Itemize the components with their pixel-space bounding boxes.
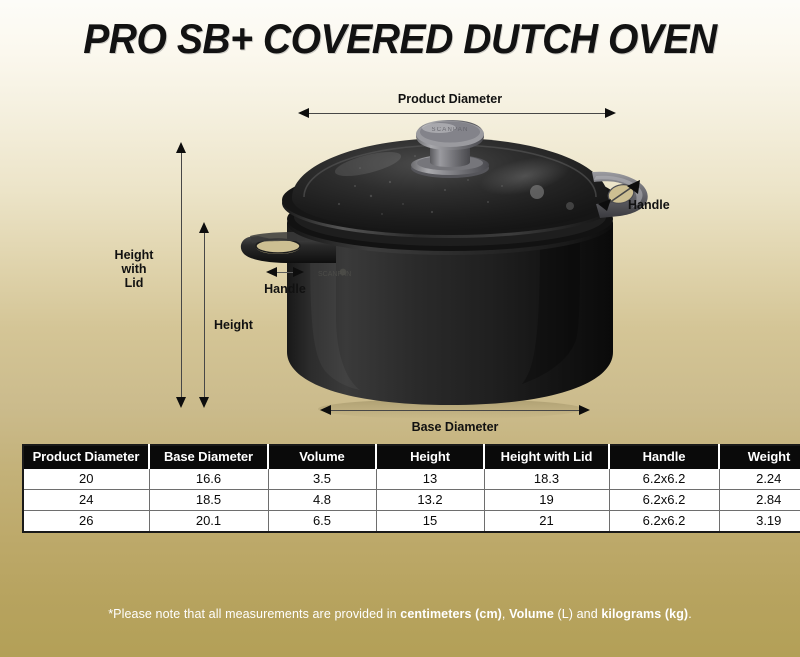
footnote-part-1: *Please note that all measurements are p… xyxy=(108,607,400,621)
arrow-base-diameter xyxy=(320,405,590,416)
footnote-bold-volume: Volume xyxy=(509,607,554,621)
table-header-cell: Base Diameter xyxy=(149,445,268,469)
table-cell: 15 xyxy=(376,511,484,533)
table-cell: 2.84 xyxy=(719,490,800,511)
arrow-product-diameter xyxy=(298,108,616,119)
table-header-row: Product Diameter Base Diameter Volume He… xyxy=(23,445,800,469)
table-cell: 3.19 xyxy=(719,511,800,533)
spec-sheet: PRO SB+ COVERED DUTCH OVEN xyxy=(0,0,800,657)
label-handle-left: Handle xyxy=(245,282,325,296)
table-cell: 26 xyxy=(23,511,149,533)
spec-table-container: Product Diameter Base Diameter Volume He… xyxy=(22,444,776,533)
table-cell: 6.2x6.2 xyxy=(609,511,719,533)
footnote-part-4: . xyxy=(688,607,692,621)
footnote: *Please note that all measurements are p… xyxy=(0,607,800,621)
table-cell: 19 xyxy=(484,490,609,511)
arrow-height xyxy=(199,222,210,408)
table-cell: 20 xyxy=(23,469,149,490)
table-row: 24 18.5 4.8 13.2 19 6.2x6.2 2.84 xyxy=(23,490,800,511)
table-cell: 2.24 xyxy=(719,469,800,490)
table-cell: 6.2x6.2 xyxy=(609,490,719,511)
arrow-shaft xyxy=(307,113,607,114)
table-cell: 18.5 xyxy=(149,490,268,511)
arrow-shaft xyxy=(275,272,295,273)
footnote-bold-centimeters: centimeters (cm) xyxy=(400,607,502,621)
footnote-bold-kilograms: kilograms (kg) xyxy=(601,607,688,621)
svg-text:SCANPAN: SCANPAN xyxy=(318,271,351,278)
table-cell: 4.8 xyxy=(268,490,376,511)
arrow-head-left xyxy=(298,108,309,118)
table-cell: 6.2x6.2 xyxy=(609,469,719,490)
svg-text:SCANPAN: SCANPAN xyxy=(432,127,469,133)
table-cell: 20.1 xyxy=(149,511,268,533)
table-row: 26 20.1 6.5 15 21 6.2x6.2 3.19 xyxy=(23,511,800,533)
arrow-height-with-lid xyxy=(176,142,187,408)
arrow-head-right xyxy=(293,267,304,277)
spec-table: Product Diameter Base Diameter Volume He… xyxy=(22,444,800,533)
label-handle-right: Handle xyxy=(628,198,708,212)
arrow-handle-left xyxy=(266,267,304,278)
arrow-head-left xyxy=(266,267,277,277)
arrow-head-right xyxy=(605,108,616,118)
table-cell: 13 xyxy=(376,469,484,490)
table-cell: 13.2 xyxy=(376,490,484,511)
arrow-head-down xyxy=(199,397,209,408)
arrow-head-down xyxy=(176,397,186,408)
table-header-cell: Height xyxy=(376,445,484,469)
arrow-shaft xyxy=(329,410,581,411)
arrow-shaft xyxy=(181,151,182,399)
table-cell: 3.5 xyxy=(268,469,376,490)
label-height-with-lid: Height with Lid xyxy=(98,248,170,290)
label-base-diameter: Base Diameter xyxy=(345,420,565,434)
table-header-cell: Weight xyxy=(719,445,800,469)
table-cell: 24 xyxy=(23,490,149,511)
table-header-cell: Handle xyxy=(609,445,719,469)
table-cell: 16.6 xyxy=(149,469,268,490)
table-cell: 6.5 xyxy=(268,511,376,533)
arrow-head-up xyxy=(199,222,209,233)
arrow-head-up xyxy=(176,142,186,153)
table-header-cell: Volume xyxy=(268,445,376,469)
label-height: Height xyxy=(214,318,274,332)
footnote-part-3: (L) and xyxy=(554,607,601,621)
table-header-cell: Height with Lid xyxy=(484,445,609,469)
arrow-head-right xyxy=(579,405,590,415)
label-product-diameter: Product Diameter xyxy=(340,92,560,106)
arrow-head-left xyxy=(320,405,331,415)
page-title: PRO SB+ COVERED DUTCH OVEN xyxy=(28,14,772,64)
arrow-shaft xyxy=(204,231,205,399)
table-row: 20 16.6 3.5 13 18.3 6.2x6.2 2.24 xyxy=(23,469,800,490)
table-cell: 21 xyxy=(484,511,609,533)
table-cell: 18.3 xyxy=(484,469,609,490)
footnote-part-2: , xyxy=(502,607,509,621)
table-header-cell: Product Diameter xyxy=(23,445,149,469)
